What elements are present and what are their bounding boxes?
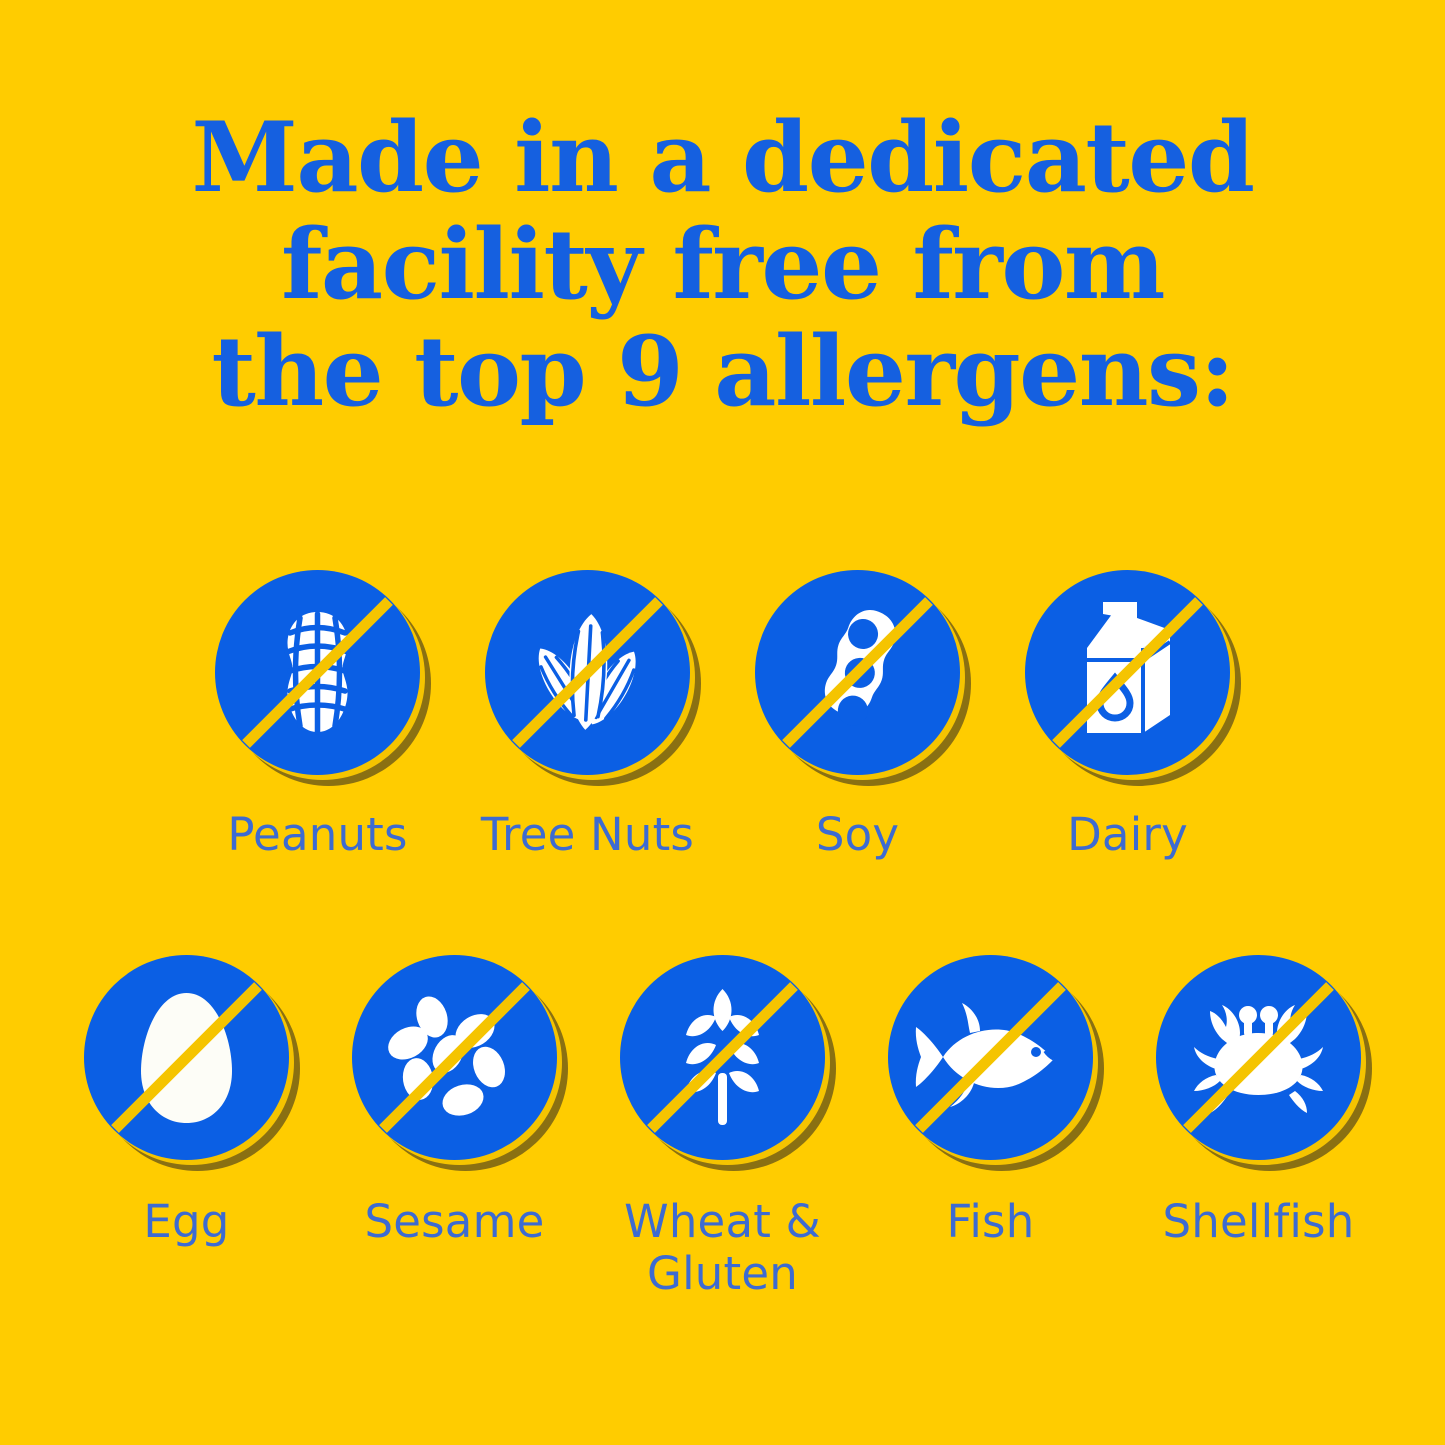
badge-disc: [755, 570, 960, 775]
allergen-label: Soy: [816, 809, 899, 861]
badge-wheat-gluten: [620, 955, 825, 1160]
allergen-item-shellfish: Shellfish: [1125, 955, 1393, 1248]
allergen-label: Fish: [947, 1196, 1035, 1248]
allergen-label: Wheat & Gluten: [624, 1196, 821, 1300]
badge-fish: [888, 955, 1093, 1160]
egg-icon: [84, 955, 289, 1160]
allergen-label: Tree Nuts: [481, 809, 694, 861]
allergen-item-tree-nuts: Tree Nuts: [453, 570, 723, 861]
badge-dairy: [1025, 570, 1230, 775]
badge-disc: [1156, 955, 1361, 1160]
badge-disc: [485, 570, 690, 775]
milk-carton-icon: [1025, 570, 1230, 775]
peanut-icon: [215, 570, 420, 775]
page-title: Made in a dedicated facility free from t…: [0, 104, 1445, 425]
allergen-label: Dairy: [1067, 809, 1188, 861]
allergen-label: Egg: [143, 1196, 229, 1248]
badge-disc: [215, 570, 420, 775]
badge-disc: [620, 955, 825, 1160]
allergen-item-peanuts: Peanuts: [183, 570, 453, 861]
badge-egg: [84, 955, 289, 1160]
headline-line-1: Made in a dedicated: [0, 104, 1445, 211]
badge-disc: [352, 955, 557, 1160]
allergen-label: Sesame: [365, 1196, 545, 1248]
allergen-item-egg: Egg: [53, 955, 321, 1248]
allergen-free-poster: Made in a dedicated facility free from t…: [0, 0, 1445, 1445]
allergen-item-dairy: Dairy: [993, 570, 1263, 861]
badge-disc: [84, 955, 289, 1160]
allergen-row-1: Peanuts: [0, 570, 1445, 861]
allergen-item-fish: Fish: [857, 955, 1125, 1248]
badge-peanuts: [215, 570, 420, 775]
sesame-seeds-icon: [352, 955, 557, 1160]
allergen-label: Peanuts: [227, 809, 407, 861]
allergen-item-soy: Soy: [723, 570, 993, 861]
badge-tree-nuts: [485, 570, 690, 775]
allergen-label: Shellfish: [1163, 1196, 1355, 1248]
fish-icon: [888, 955, 1093, 1160]
wheat-stalk-icon: [620, 955, 825, 1160]
allergen-row-2: Egg: [0, 955, 1445, 1300]
headline-line-3: the top 9 allergens:: [0, 318, 1445, 425]
soybean-pod-icon: [755, 570, 960, 775]
badge-soy: [755, 570, 960, 775]
crab-icon: [1156, 955, 1361, 1160]
badge-shellfish: [1156, 955, 1361, 1160]
badge-disc: [888, 955, 1093, 1160]
badge-disc: [1025, 570, 1230, 775]
almond-icon: [485, 570, 690, 775]
headline-line-2: facility free from: [0, 211, 1445, 318]
allergen-item-sesame: Sesame: [321, 955, 589, 1248]
allergen-item-wheat-gluten: Wheat & Gluten: [589, 955, 857, 1300]
badge-sesame: [352, 955, 557, 1160]
